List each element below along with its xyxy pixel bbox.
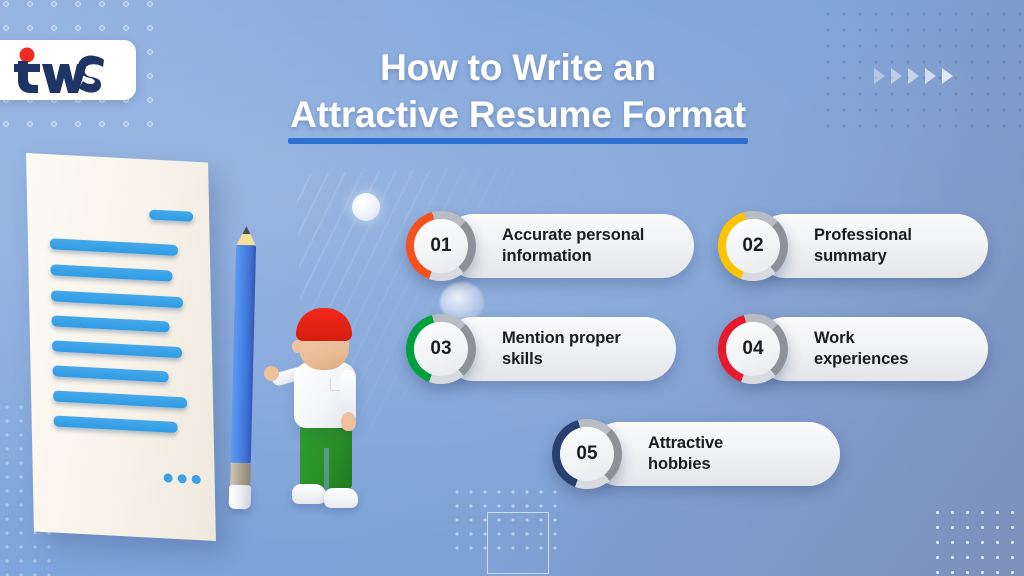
page-title: How to Write an Attractive Resume Format [258,44,778,141]
character-right-hand [341,412,356,431]
list-item[interactable]: 02 Professional summary [718,214,988,278]
title-line-2: Attractive Resume Format [290,94,746,135]
list-item[interactable]: 04 Work experiences [718,317,988,381]
character-3d-illustration [278,300,374,528]
character-hair [296,308,352,341]
tws-logo-badge[interactable] [0,40,136,100]
tws-logo-icon [6,47,110,93]
list-item-number-ring: 01 [406,211,476,281]
resume-document-illustration [26,153,216,541]
list-item-number: 01 [414,219,468,273]
list-item-number-ring: 05 [552,419,622,489]
character-leg-split [324,448,329,492]
list-item-label: Professional summary [814,214,912,278]
play-arrow-icon-5 [942,68,953,84]
list-item[interactable]: 03 Mention proper skills [406,317,676,381]
play-arrow-icon-2 [891,68,902,84]
outline-square-decoration [487,512,549,574]
character-right-shoe [324,488,358,508]
title-underline [288,138,748,144]
pencil-lead [242,226,250,234]
list-item-number-ring: 03 [406,314,476,384]
play-arrow-icon-1 [874,68,885,84]
document-dot [164,473,173,482]
blue-pencil-illustration [226,226,259,517]
title-line-2-wrapper: Attractive Resume Format [290,91,746,141]
document-dots [164,473,201,484]
list-item-label-line2: hobbies [648,454,723,475]
list-item-label-line2: skills [502,349,621,370]
list-item-number: 04 [726,322,780,376]
character-left-shoe [292,484,326,504]
list-item-label-line1: Professional [814,225,912,246]
list-item-label-line2: information [502,246,644,267]
list-item-label: Accurate personal information [502,214,644,278]
title-line-1: How to Write an [258,44,778,91]
play-arrow-icon-4 [925,68,936,84]
list-item-label-line1: Mention proper [502,328,621,349]
list-item-number-ring: 02 [718,211,788,281]
list-item-label-line1: Work [814,328,908,349]
list-item-label: Mention proper skills [502,317,621,381]
pencil-eraser [229,485,252,510]
list-item-label-line2: experiences [814,349,908,370]
dot-grid-pattern-bottom-right [930,505,1024,576]
list-item-number: 02 [726,219,780,273]
arrow-decoration-group [874,68,953,84]
list-item[interactable]: 05 Attractive hobbies [552,422,840,486]
infographic-canvas: How to Write an Attractive Resume Format [0,0,1024,576]
pencil-body [231,245,256,463]
pencil-ferrule [230,463,251,487]
document-dot [178,474,187,483]
list-item-label-line2: summary [814,246,912,267]
list-item-label: Work experiences [814,317,908,381]
document-dot [192,475,201,484]
character-left-hand [264,366,279,381]
list-item[interactable]: 01 Accurate personal information [406,214,694,278]
list-item-number-ring: 04 [718,314,788,384]
glowing-sphere-decoration [352,193,380,221]
list-item-label: Attractive hobbies [648,422,723,486]
list-item-label-line1: Attractive [648,433,723,454]
play-arrow-icon-3 [908,68,919,84]
list-item-number: 03 [414,322,468,376]
list-item-label-line1: Accurate personal [502,225,644,246]
list-item-number: 05 [560,427,614,481]
